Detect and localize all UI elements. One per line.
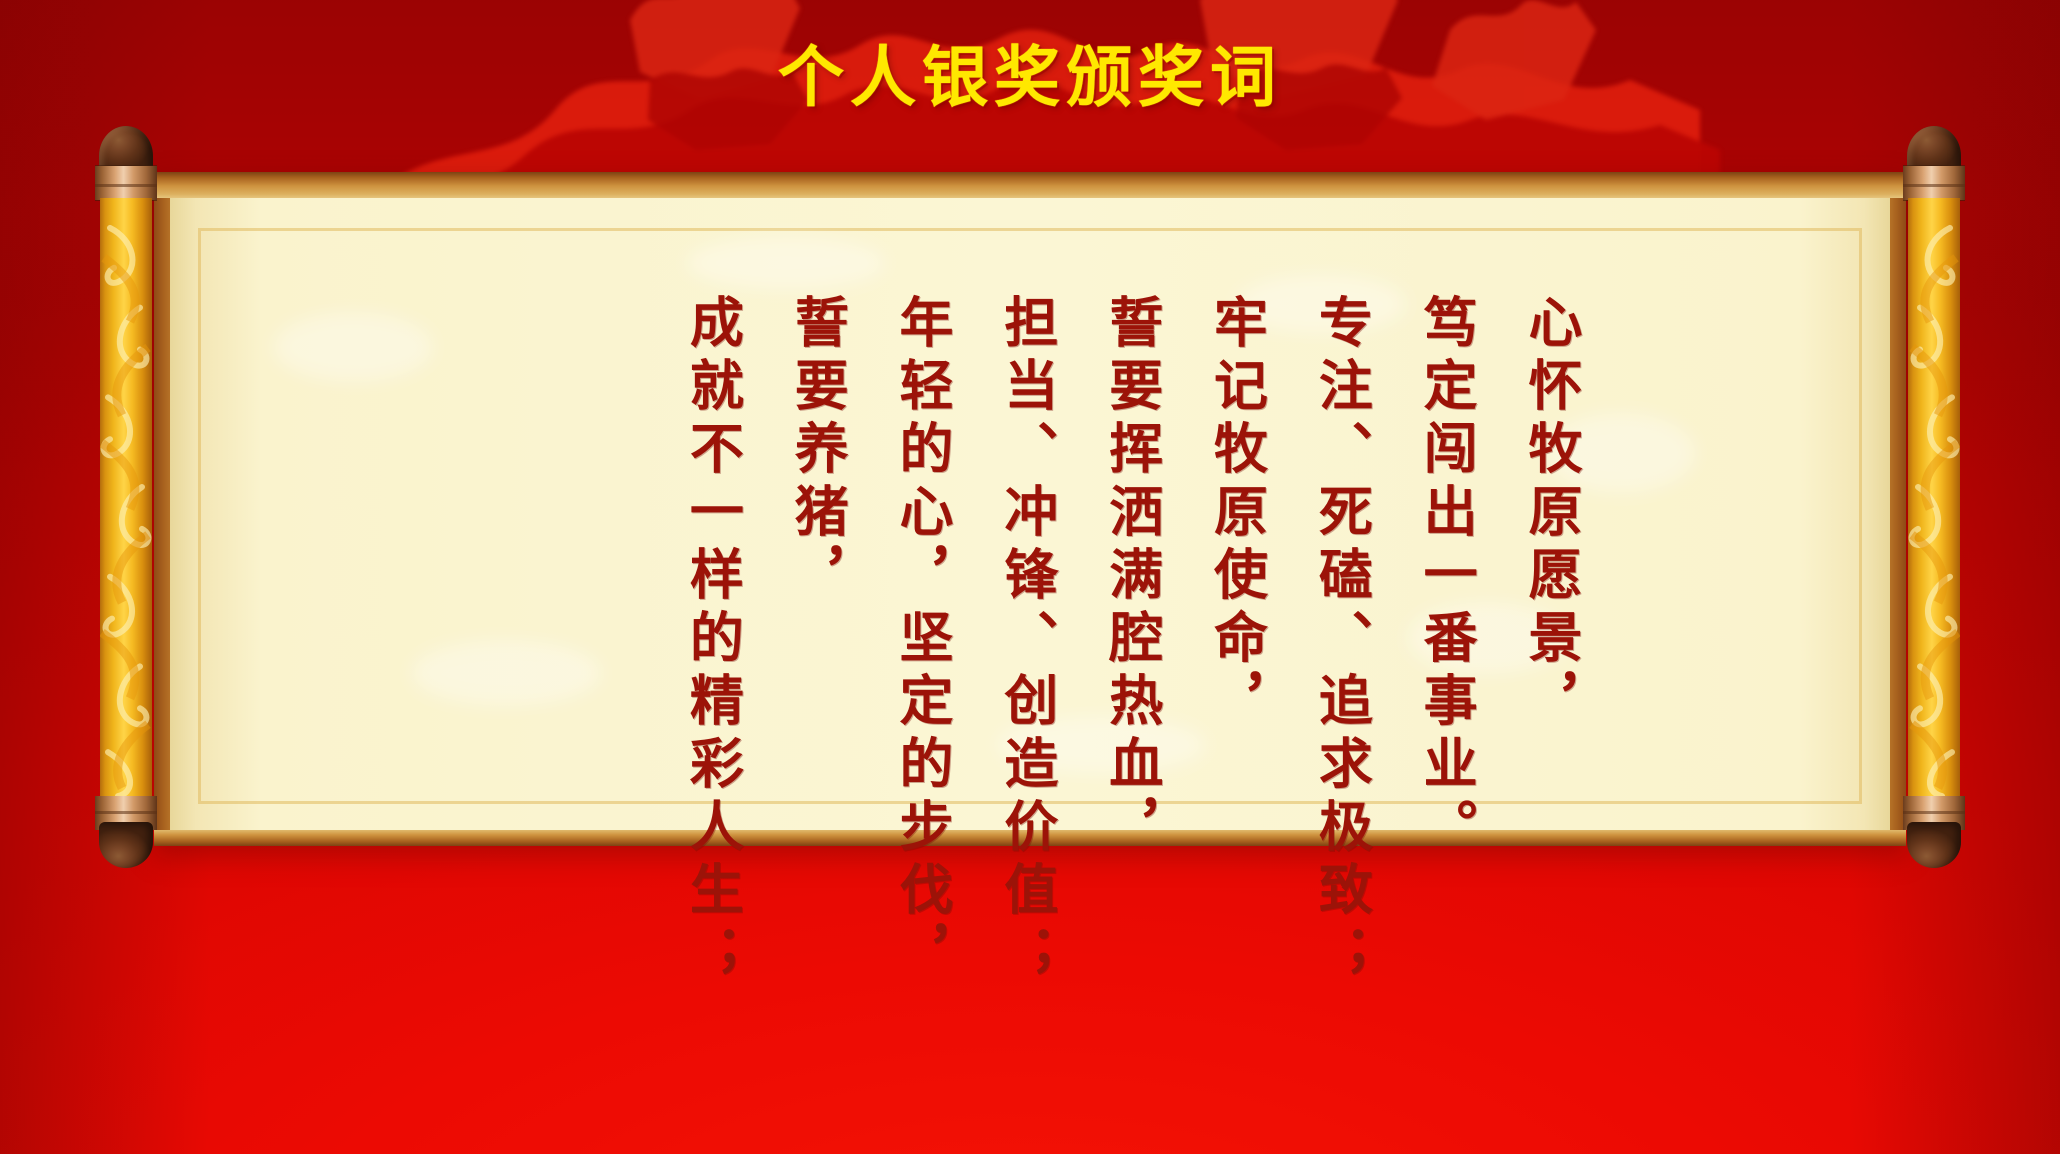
scroll-paper-face: 心怀牧原愿景， 笃定闯出一番事业。 专注、死磕、追求极致； 牢记牧原使命， 誓要… [170,198,1890,830]
rod-swirl-pattern-icon [100,198,152,796]
slide-canvas: 个人银奖颁奖词 心怀牧原愿景， [0,0,2060,1154]
verse-column: 誓要挥洒满腔热血， [1092,294,1171,861]
verse-column: 牢记牧原使命， [1197,294,1276,735]
verse-column: 年轻的心，坚定的步伐， [882,294,961,987]
scroll-collar-top [1903,166,1965,200]
scroll-finial-bottom-icon [1907,822,1961,868]
scroll-paper: 心怀牧原愿景， 笃定闯出一番事业。 专注、死磕、追求极致； 牢记牧原使命， 誓要… [154,172,1906,846]
verse-column: 笃定闯出一番事业。 [1406,294,1485,861]
verse-column: 担当、冲锋、创造价值； [987,294,1066,987]
right-scroll-rod [1906,126,1962,868]
verse-column: 专注、死磕、追求极致； [1302,294,1381,987]
scroll-banner: 心怀牧原愿景， 笃定闯出一番事业。 专注、死磕、追求极致； 牢记牧原使命， 誓要… [98,126,1962,868]
verse-column: 成就不一样的精彩人生； [673,294,752,987]
scroll-finial-bottom-icon [99,822,153,868]
rod-swirl-pattern-icon [1908,198,1960,796]
left-scroll-rod [98,126,154,868]
scroll-rod-body [1908,198,1960,796]
verse-column: 心怀牧原愿景， [1511,294,1590,735]
scroll-rod-body [100,198,152,796]
scroll-paper-top-band [154,172,1906,198]
award-citation-text: 心怀牧原愿景， 笃定闯出一番事业。 专注、死磕、追求极致； 牢记牧原使命， 誓要… [170,198,1890,830]
scroll-collar-top [95,166,157,200]
verse-column: 誓要养猪， [777,294,856,609]
page-title: 个人银奖颁奖词 [0,44,2060,110]
